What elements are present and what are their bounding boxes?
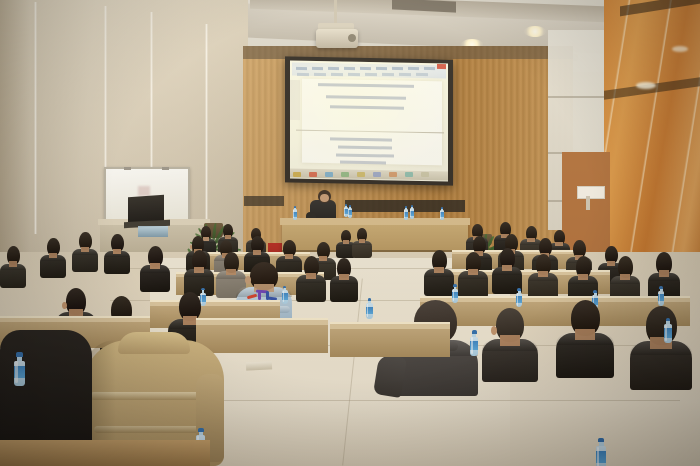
projected-ribbon-tool[interactable] (382, 73, 394, 76)
foreground-water-bottle (470, 330, 478, 356)
right-wall-light-reflection (636, 82, 656, 89)
audience-member (184, 250, 214, 296)
audience-member (330, 258, 358, 302)
projected-ribbon-tool[interactable] (331, 73, 343, 76)
person-neck (49, 253, 58, 259)
desk-edge-highlight (330, 322, 450, 324)
person-neck (285, 254, 294, 259)
person-ear (245, 276, 251, 283)
projected-taskbar-icon[interactable] (341, 172, 349, 177)
tan-jacket-collar (118, 332, 190, 354)
head-table-water-bottle (293, 206, 297, 220)
projected-taskbar-icon[interactable] (405, 172, 413, 177)
bottle-highlight (283, 291, 284, 302)
desk-water-bottle (366, 298, 373, 319)
person-neck (194, 267, 204, 273)
projected-taskbar-icon[interactable] (293, 172, 301, 177)
foreground-water-bottle (14, 352, 25, 386)
audience-member-right (424, 250, 454, 296)
person-neck (620, 274, 630, 281)
projected-ribbon-tab[interactable] (312, 67, 323, 70)
projected-ribbon-tab[interactable] (344, 67, 355, 70)
projected-ribbon-tool[interactable] (297, 73, 309, 76)
desk-edge-highlight (0, 316, 150, 318)
projected-taskbar-icon[interactable] (421, 172, 429, 177)
person-neck (468, 269, 478, 275)
av-equipment-strip-left (244, 196, 284, 206)
person-neck (538, 271, 548, 277)
head-table-water-bottle (440, 207, 444, 220)
bottle-highlight (471, 337, 473, 354)
door-sign (577, 186, 605, 199)
logo-stroke-red (247, 294, 257, 300)
audience-member-right (528, 254, 558, 300)
partition-seam (205, 24, 208, 220)
whiteboard-clip (124, 167, 131, 170)
audience-member (140, 246, 170, 292)
notebook-on-desk (246, 361, 272, 370)
audience-member-left-edge (0, 246, 26, 288)
projector-lens-icon (348, 34, 356, 42)
foreground-water-bottle (664, 318, 672, 343)
partition-seam (34, 2, 37, 234)
head-table-water-bottle (410, 205, 414, 219)
conference-room-photo (0, 0, 700, 466)
person-neck (343, 240, 350, 244)
desk-edge-highlight (420, 296, 690, 298)
desk-water-bottle (658, 286, 664, 306)
downlight-icon (524, 26, 546, 37)
right-wall-light-reflection (672, 46, 688, 52)
desk-water-bottle (516, 288, 522, 307)
laptop-screen[interactable] (128, 195, 164, 224)
projected-taskbar-icon[interactable] (389, 172, 397, 177)
person-neck (575, 329, 595, 340)
projected-taskbar-icon[interactable] (373, 172, 381, 177)
bottle-highlight (15, 361, 17, 383)
projected-ribbon-tool[interactable] (399, 73, 411, 76)
person-neck (502, 265, 512, 271)
projected-ribbon-tab[interactable] (392, 67, 403, 70)
audience-member (296, 256, 326, 302)
person-ear (62, 302, 66, 309)
person-neck (225, 235, 232, 239)
desk-water-bottle (282, 286, 288, 304)
person-neck (306, 273, 316, 279)
audience-member-left (104, 234, 130, 274)
whiteboard-marking (138, 186, 150, 196)
person-neck (113, 249, 122, 255)
audience-member-left (40, 238, 66, 278)
projected-ribbon-tab[interactable] (376, 67, 387, 70)
person-neck (659, 270, 670, 277)
audience-member-near-right-edge (630, 306, 692, 390)
audience-member-near-right (482, 308, 538, 382)
person-neck (339, 274, 349, 280)
projected-taskbar-icon[interactable] (357, 172, 365, 177)
projected-ribbon-tab[interactable] (408, 67, 419, 70)
projected-ribbon-tool[interactable] (416, 73, 428, 76)
laptop-display-glow (138, 226, 168, 237)
projected-ribbon-tool[interactable] (365, 73, 377, 76)
desk-edge-highlight (196, 318, 328, 320)
person-neck (359, 239, 366, 243)
person-neck (578, 274, 588, 281)
audience-member-right (458, 252, 488, 298)
audience-member-far-center (352, 228, 372, 258)
projected-ribbon-tab[interactable] (360, 67, 371, 70)
desk-front (330, 329, 450, 357)
person-ear (491, 326, 497, 335)
person-neck (150, 263, 160, 269)
head-table-water-bottle (404, 206, 408, 220)
audience-member-near-right (556, 300, 614, 378)
foreground-desk (0, 440, 210, 466)
presenter-face (320, 194, 329, 202)
projected-ribbon-tab[interactable] (296, 67, 307, 70)
whiteboard-clip (162, 167, 169, 170)
projected-ribbon-tab[interactable] (424, 67, 435, 70)
projected-ribbon-tool[interactable] (348, 73, 360, 76)
person-neck (500, 335, 519, 345)
person-neck (9, 261, 18, 267)
person-neck (434, 267, 444, 273)
bottle-highlight (659, 291, 660, 304)
bottle-highlight (665, 325, 667, 341)
conference-desk-row4-right (330, 322, 450, 357)
person-neck (253, 250, 262, 255)
projected-taskbar-icon[interactable] (309, 172, 317, 177)
projected-taskbar-icon[interactable] (325, 172, 333, 177)
person-neck (226, 269, 236, 275)
door-handle[interactable] (586, 196, 590, 210)
audience-member-left (72, 232, 98, 272)
foreground-water-bottle (596, 438, 606, 466)
head-table-water-bottle (348, 205, 352, 218)
glass-panel-seam (548, 96, 606, 98)
bottle-highlight (517, 293, 518, 305)
person-neck (81, 247, 90, 253)
projected-ribbon-tool[interactable] (314, 73, 326, 76)
logo-stroke-purple-2 (258, 292, 261, 300)
projected-ribbon-tab[interactable] (328, 67, 339, 70)
